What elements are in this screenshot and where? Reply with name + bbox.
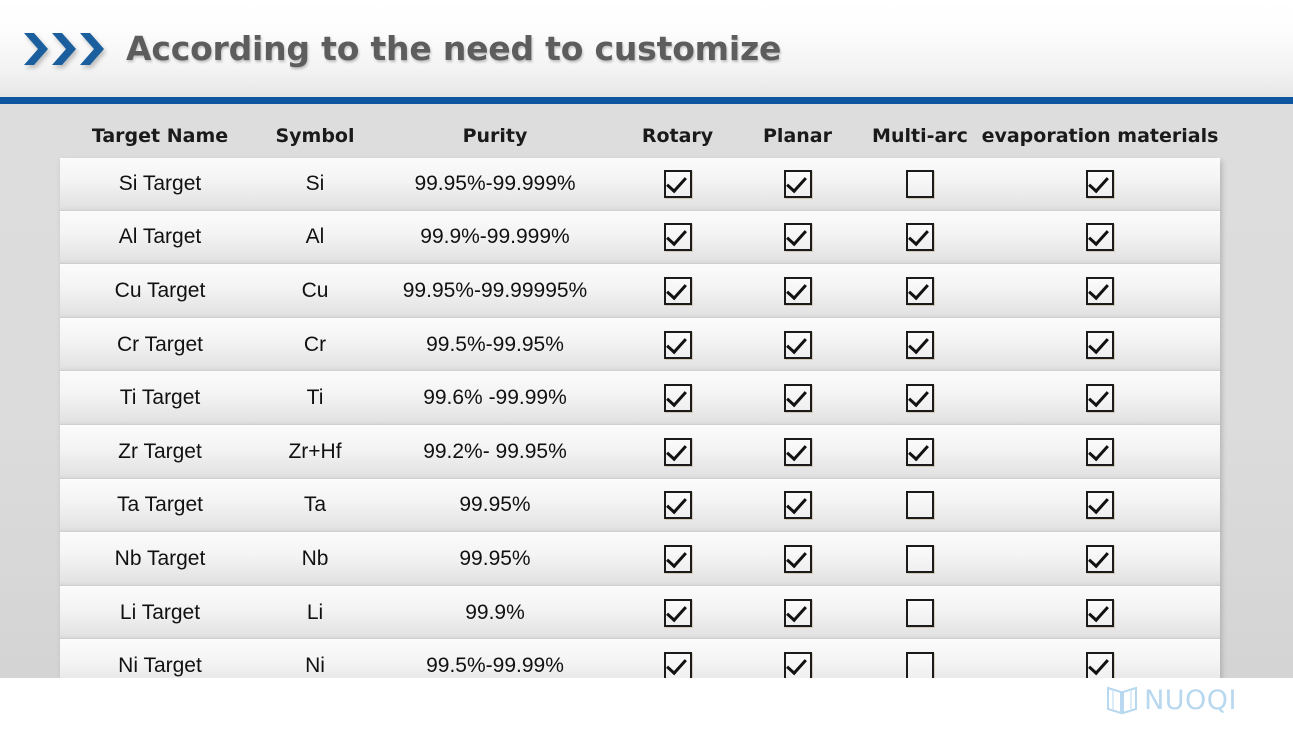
table-header-row: Target Name Symbol Purity Rotary Planar … (60, 114, 1220, 158)
checkbox-checked-icon[interactable] (1086, 223, 1114, 251)
cell-symbol: Cr (260, 333, 370, 357)
cell-planar (735, 599, 860, 627)
checkbox-checked-icon[interactable] (664, 170, 692, 198)
checkbox-checked-icon[interactable] (1086, 599, 1114, 627)
checkbox-checked-icon[interactable] (664, 545, 692, 573)
column-header-symbol: Symbol (260, 125, 370, 147)
checkbox-checked-icon[interactable] (1086, 277, 1114, 305)
checkbox-checked-icon[interactable] (1086, 491, 1114, 519)
checkbox-checked-icon[interactable] (906, 223, 934, 251)
cell-name: Ni Target (60, 654, 260, 678)
cell-symbol: Zr+Hf (260, 440, 370, 464)
cell-evaporation-materials (980, 331, 1220, 359)
cell-purity: 99.5%-99.95% (370, 333, 620, 357)
cell-name: Al Target (60, 225, 260, 249)
cell-multi-arc (860, 491, 980, 519)
table-row: Zr TargetZr+Hf99.2%- 99.95% (60, 425, 1220, 479)
cell-evaporation-materials (980, 170, 1220, 198)
cell-rotary (620, 331, 735, 359)
checkbox-checked-icon[interactable] (664, 491, 692, 519)
checkbox-checked-icon[interactable] (664, 652, 692, 680)
cell-purity: 99.6% -99.99% (370, 386, 620, 410)
cell-rotary (620, 545, 735, 573)
brand-logo: NUOQI (1105, 684, 1237, 716)
cell-planar (735, 384, 860, 412)
cell-multi-arc (860, 438, 980, 466)
cell-purity: 99.95%-99.99995% (370, 279, 620, 303)
cell-symbol: Al (260, 225, 370, 249)
table-row: Li TargetLi99.9% (60, 586, 1220, 640)
chevron-right-icon (50, 29, 80, 69)
cell-planar (735, 170, 860, 198)
cell-evaporation-materials (980, 223, 1220, 251)
table-body: Si TargetSi99.95%-99.999%Al TargetAl99.9… (60, 158, 1220, 692)
cell-rotary (620, 170, 735, 198)
cell-rotary (620, 438, 735, 466)
column-header-purity: Purity (370, 125, 620, 147)
cell-symbol: Nb (260, 547, 370, 571)
column-header-evaporation-materials: evaporation materials (980, 125, 1220, 147)
column-header-target-name: Target Name (60, 125, 260, 147)
checkbox-checked-icon[interactable] (1086, 170, 1114, 198)
column-header-multi-arc: Multi-arc (860, 125, 980, 147)
targets-table: Target Name Symbol Purity Rotary Planar … (60, 114, 1220, 692)
cell-name: Ta Target (60, 493, 260, 517)
cell-planar (735, 491, 860, 519)
cell-name: Li Target (60, 601, 260, 625)
cell-planar (735, 438, 860, 466)
checkbox-checked-icon[interactable] (784, 170, 812, 198)
cell-purity: 99.2%- 99.95% (370, 440, 620, 464)
cell-purity: 99.9% (370, 601, 620, 625)
table-row: Ti TargetTi99.6% -99.99% (60, 371, 1220, 425)
checkbox-checked-icon[interactable] (664, 331, 692, 359)
cell-multi-arc (860, 277, 980, 305)
checkbox-unchecked-icon[interactable] (906, 545, 934, 573)
header-divider (0, 97, 1293, 104)
cell-multi-arc (860, 384, 980, 412)
checkbox-unchecked-icon[interactable] (906, 491, 934, 519)
cell-planar (735, 223, 860, 251)
cell-rotary (620, 652, 735, 680)
column-header-planar: Planar (735, 125, 860, 147)
cell-multi-arc (860, 652, 980, 680)
checkbox-checked-icon[interactable] (784, 438, 812, 466)
cell-rotary (620, 223, 735, 251)
cell-symbol: Ti (260, 386, 370, 410)
cell-name: Cr Target (60, 333, 260, 357)
cell-symbol: Si (260, 172, 370, 196)
chevron-right-icon (22, 29, 52, 69)
table-row: Ta TargetTa99.95% (60, 479, 1220, 533)
cell-evaporation-materials (980, 599, 1220, 627)
cell-planar (735, 545, 860, 573)
cell-evaporation-materials (980, 438, 1220, 466)
checkbox-checked-icon[interactable] (664, 438, 692, 466)
cell-planar (735, 331, 860, 359)
open-book-icon (1105, 684, 1139, 716)
column-header-rotary: Rotary (620, 125, 735, 147)
checkbox-checked-icon[interactable] (784, 384, 812, 412)
checkbox-checked-icon[interactable] (664, 223, 692, 251)
checkbox-checked-icon[interactable] (784, 491, 812, 519)
cell-evaporation-materials (980, 491, 1220, 519)
triple-chevron-right-icon (22, 26, 106, 72)
checkbox-checked-icon[interactable] (784, 599, 812, 627)
checkbox-checked-icon[interactable] (784, 277, 812, 305)
table-row: Nb TargetNb99.95% (60, 532, 1220, 586)
cell-evaporation-materials (980, 277, 1220, 305)
checkbox-checked-icon[interactable] (784, 545, 812, 573)
table-row: Cr TargetCr99.5%-99.95% (60, 318, 1220, 372)
checkbox-checked-icon[interactable] (784, 331, 812, 359)
checkbox-checked-icon[interactable] (1086, 384, 1114, 412)
cell-purity: 99.95%-99.999% (370, 172, 620, 196)
table-row: Si TargetSi99.95%-99.999% (60, 158, 1220, 211)
checkbox-checked-icon[interactable] (1086, 331, 1114, 359)
cell-purity: 99.95% (370, 493, 620, 517)
page-title: According to the need to customize (126, 29, 781, 68)
brand-name: NUOQI (1144, 685, 1237, 716)
cell-multi-arc (860, 599, 980, 627)
cell-symbol: Ni (260, 654, 370, 678)
checkbox-checked-icon[interactable] (906, 277, 934, 305)
checkbox-unchecked-icon[interactable] (906, 170, 934, 198)
cell-purity: 99.95% (370, 547, 620, 571)
cell-name: Cu Target (60, 279, 260, 303)
cell-multi-arc (860, 331, 980, 359)
cell-multi-arc (860, 170, 980, 198)
checkbox-checked-icon[interactable] (906, 384, 934, 412)
checkbox-checked-icon[interactable] (1086, 438, 1114, 466)
cell-rotary (620, 491, 735, 519)
cell-multi-arc (860, 223, 980, 251)
checkbox-checked-icon[interactable] (664, 384, 692, 412)
checkbox-checked-icon[interactable] (664, 599, 692, 627)
cell-symbol: Cu (260, 279, 370, 303)
checkbox-unchecked-icon[interactable] (906, 599, 934, 627)
cell-name: Ti Target (60, 386, 260, 410)
cell-rotary (620, 599, 735, 627)
cell-rotary (620, 384, 735, 412)
page-header: According to the need to customize (0, 0, 1293, 97)
cell-planar (735, 652, 860, 680)
checkbox-checked-icon[interactable] (784, 652, 812, 680)
cell-rotary (620, 277, 735, 305)
checkbox-unchecked-icon[interactable] (906, 652, 934, 680)
checkbox-checked-icon[interactable] (906, 331, 934, 359)
cell-purity: 99.9%-99.999% (370, 225, 620, 249)
checkbox-checked-icon[interactable] (1086, 652, 1114, 680)
table-row: Cu TargetCu99.95%-99.99995% (60, 264, 1220, 318)
page-footer: NUOQI (0, 678, 1293, 730)
chevron-right-icon (78, 29, 108, 69)
table-row: Al TargetAl99.9%-99.999% (60, 211, 1220, 265)
cell-evaporation-materials (980, 384, 1220, 412)
checkbox-checked-icon[interactable] (784, 223, 812, 251)
checkbox-checked-icon[interactable] (906, 438, 934, 466)
cell-symbol: Li (260, 601, 370, 625)
cell-purity: 99.5%-99.99% (370, 654, 620, 678)
cell-evaporation-materials (980, 545, 1220, 573)
cell-evaporation-materials (980, 652, 1220, 680)
cell-name: Zr Target (60, 440, 260, 464)
cell-name: Nb Target (60, 547, 260, 571)
cell-multi-arc (860, 545, 980, 573)
cell-planar (735, 277, 860, 305)
checkbox-checked-icon[interactable] (664, 277, 692, 305)
cell-symbol: Ta (260, 493, 370, 517)
cell-name: Si Target (60, 172, 260, 196)
checkbox-checked-icon[interactable] (1086, 545, 1114, 573)
